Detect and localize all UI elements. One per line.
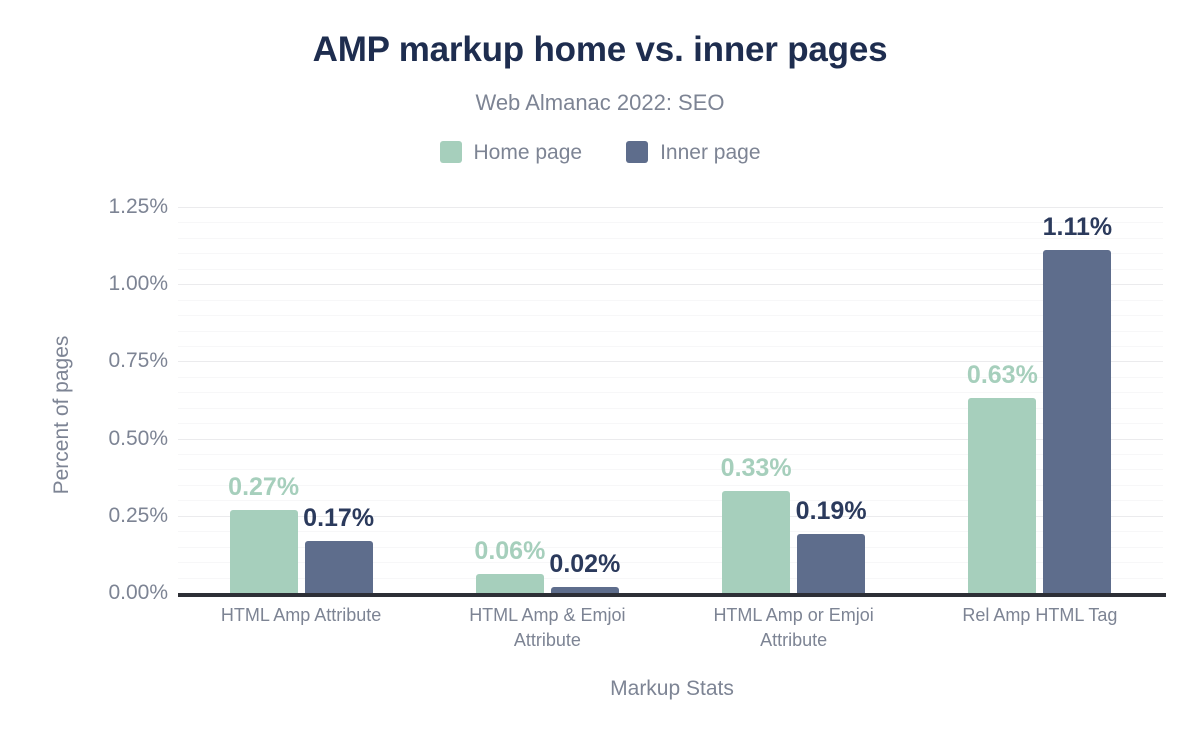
plot-area: 0.27%0.17%0.06%0.02%0.33%0.19%0.63%1.11%: [178, 207, 1163, 593]
y-axis-title: Percent of pages: [50, 315, 74, 515]
chart-legend: Home page Inner page: [0, 141, 1200, 163]
chart-title: AMP markup home vs. inner pages: [0, 30, 1200, 70]
legend-item-home-page[interactable]: Home page: [440, 141, 583, 163]
gridline-minor: [178, 300, 1163, 301]
x-axis-tick-labels: HTML Amp AttributeHTML Amp & EmjoiAttrib…: [178, 603, 1166, 661]
y-axis-tick-label: 0.50%: [108, 427, 168, 451]
amp-markup-bar-chart: { "chart_data": { "type": "bar", "title"…: [0, 0, 1200, 742]
gridline-minor: [178, 331, 1163, 332]
bar-value-label: 0.02%: [549, 550, 620, 579]
y-axis-tick-label: 1.25%: [108, 195, 168, 219]
bar-home-page[interactable]: [476, 574, 544, 593]
legend-swatch-home-page: [440, 141, 462, 163]
x-axis-tick-label: HTML Amp Attribute: [206, 603, 396, 628]
x-axis-tick-label: Rel Amp HTML Tag: [945, 603, 1135, 628]
x-axis-tick-line: HTML Amp Attribute: [206, 603, 396, 628]
bar-value-label: 0.63%: [967, 361, 1038, 390]
bar-home-page[interactable]: [722, 491, 790, 593]
x-axis-tick-label: HTML Amp or EmjoiAttribute: [699, 603, 889, 653]
gridline-minor: [178, 253, 1163, 254]
gridline-minor: [178, 222, 1163, 223]
gridline-major: [178, 207, 1163, 208]
x-axis-tick-line: HTML Amp & Emjoi: [452, 603, 642, 628]
x-axis-title: Markup Stats: [178, 677, 1166, 701]
legend-label-inner-page: Inner page: [660, 142, 760, 163]
bar-value-label: 0.27%: [228, 473, 299, 502]
legend-swatch-inner-page: [626, 141, 648, 163]
y-axis-tick-label: 0.75%: [108, 349, 168, 373]
y-axis-tick-label: 0.25%: [108, 504, 168, 528]
x-axis-tick-label: HTML Amp & EmjoiAttribute: [452, 603, 642, 653]
x-axis-baseline: [178, 593, 1166, 597]
y-axis-tick-label: 0.00%: [108, 581, 168, 605]
bar-home-page[interactable]: [230, 510, 298, 593]
bar-value-label: 0.19%: [796, 497, 867, 526]
gridline-minor: [178, 315, 1163, 316]
gridline-minor: [178, 238, 1163, 239]
bar-value-label: 0.33%: [721, 454, 792, 483]
legend-label-home-page: Home page: [474, 142, 583, 163]
x-axis-tick-line: HTML Amp or Emjoi: [699, 603, 889, 628]
bar-inner-page[interactable]: [797, 534, 865, 593]
x-axis-tick-line: Attribute: [699, 628, 889, 653]
legend-item-inner-page[interactable]: Inner page: [626, 141, 760, 163]
gridline-major: [178, 284, 1163, 285]
chart-subtitle: Web Almanac 2022: SEO: [0, 90, 1200, 116]
bar-value-label: 0.06%: [474, 537, 545, 566]
gridline-minor: [178, 392, 1163, 393]
gridline-minor: [178, 346, 1163, 347]
bar-inner-page[interactable]: [305, 541, 373, 593]
x-axis-tick-line: Attribute: [452, 628, 642, 653]
gridline-minor: [178, 269, 1163, 270]
y-axis-tick-label: 1.00%: [108, 272, 168, 296]
x-axis-tick-line: Rel Amp HTML Tag: [945, 603, 1135, 628]
bar-value-label: 1.11%: [1043, 213, 1113, 242]
bar-home-page[interactable]: [968, 398, 1036, 593]
bar-inner-page[interactable]: [1043, 250, 1111, 593]
bar-value-label: 0.17%: [303, 504, 374, 533]
